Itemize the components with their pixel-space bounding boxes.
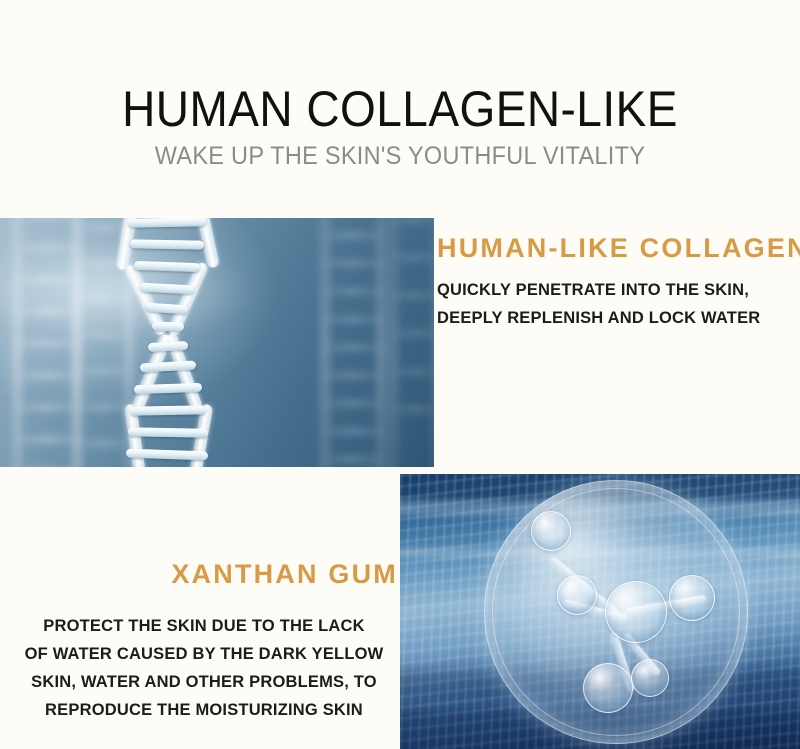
description-line: SKIN, WATER AND OTHER PROBLEMS, TO (10, 668, 398, 696)
section-human-like-collagen: HUMAN-LIKE COLLAGEN QUICKLY PENETRATE IN… (437, 232, 789, 332)
description-line: REPRODUCE THE MOISTURIZING SKIN (10, 696, 398, 724)
atom-lower-left (583, 663, 633, 713)
atom-upper-left (531, 511, 571, 551)
atom-mid-left (557, 575, 597, 615)
atom-lower-right (631, 659, 669, 697)
section-description-human-like-collagen: QUICKLY PENETRATE INTO THE SKIN, DEEPLY … (437, 276, 789, 332)
atom-right (669, 575, 715, 621)
page-subtitle: WAKE UP THE SKIN'S YOUTHFUL VITALITY (24, 142, 776, 170)
description-line: OF WATER CAUSED BY THE DARK YELLOW (10, 640, 398, 668)
atom-center (605, 581, 667, 643)
section-title-human-like-collagen: HUMAN-LIKE COLLAGEN (437, 232, 789, 264)
water-molecule-sphere-photo (400, 474, 800, 749)
description-line: PROTECT THE SKIN DUE TO THE LACK (10, 612, 398, 640)
description-line: DEEPLY REPLENISH AND LOCK WATER (437, 304, 789, 332)
description-line: QUICKLY PENETRATE INTO THE SKIN, (437, 276, 789, 304)
section-description-xanthan-gum: PROTECT THE SKIN DUE TO THE LACK OF WATE… (10, 612, 398, 724)
dna-double-helix-photo (0, 218, 434, 467)
page-title: HUMAN COLLAGEN-LIKE (32, 82, 768, 136)
product-feature-banner: HUMAN COLLAGEN-LIKE WAKE UP THE SKIN'S Y… (0, 0, 800, 749)
section-xanthan-gum: XANTHAN GUM PROTECT THE SKIN DUE TO THE … (10, 558, 398, 724)
transparent-sphere (484, 480, 748, 744)
dna-foreground-helix (112, 218, 224, 467)
section-title-xanthan-gum: XANTHAN GUM (10, 558, 398, 590)
